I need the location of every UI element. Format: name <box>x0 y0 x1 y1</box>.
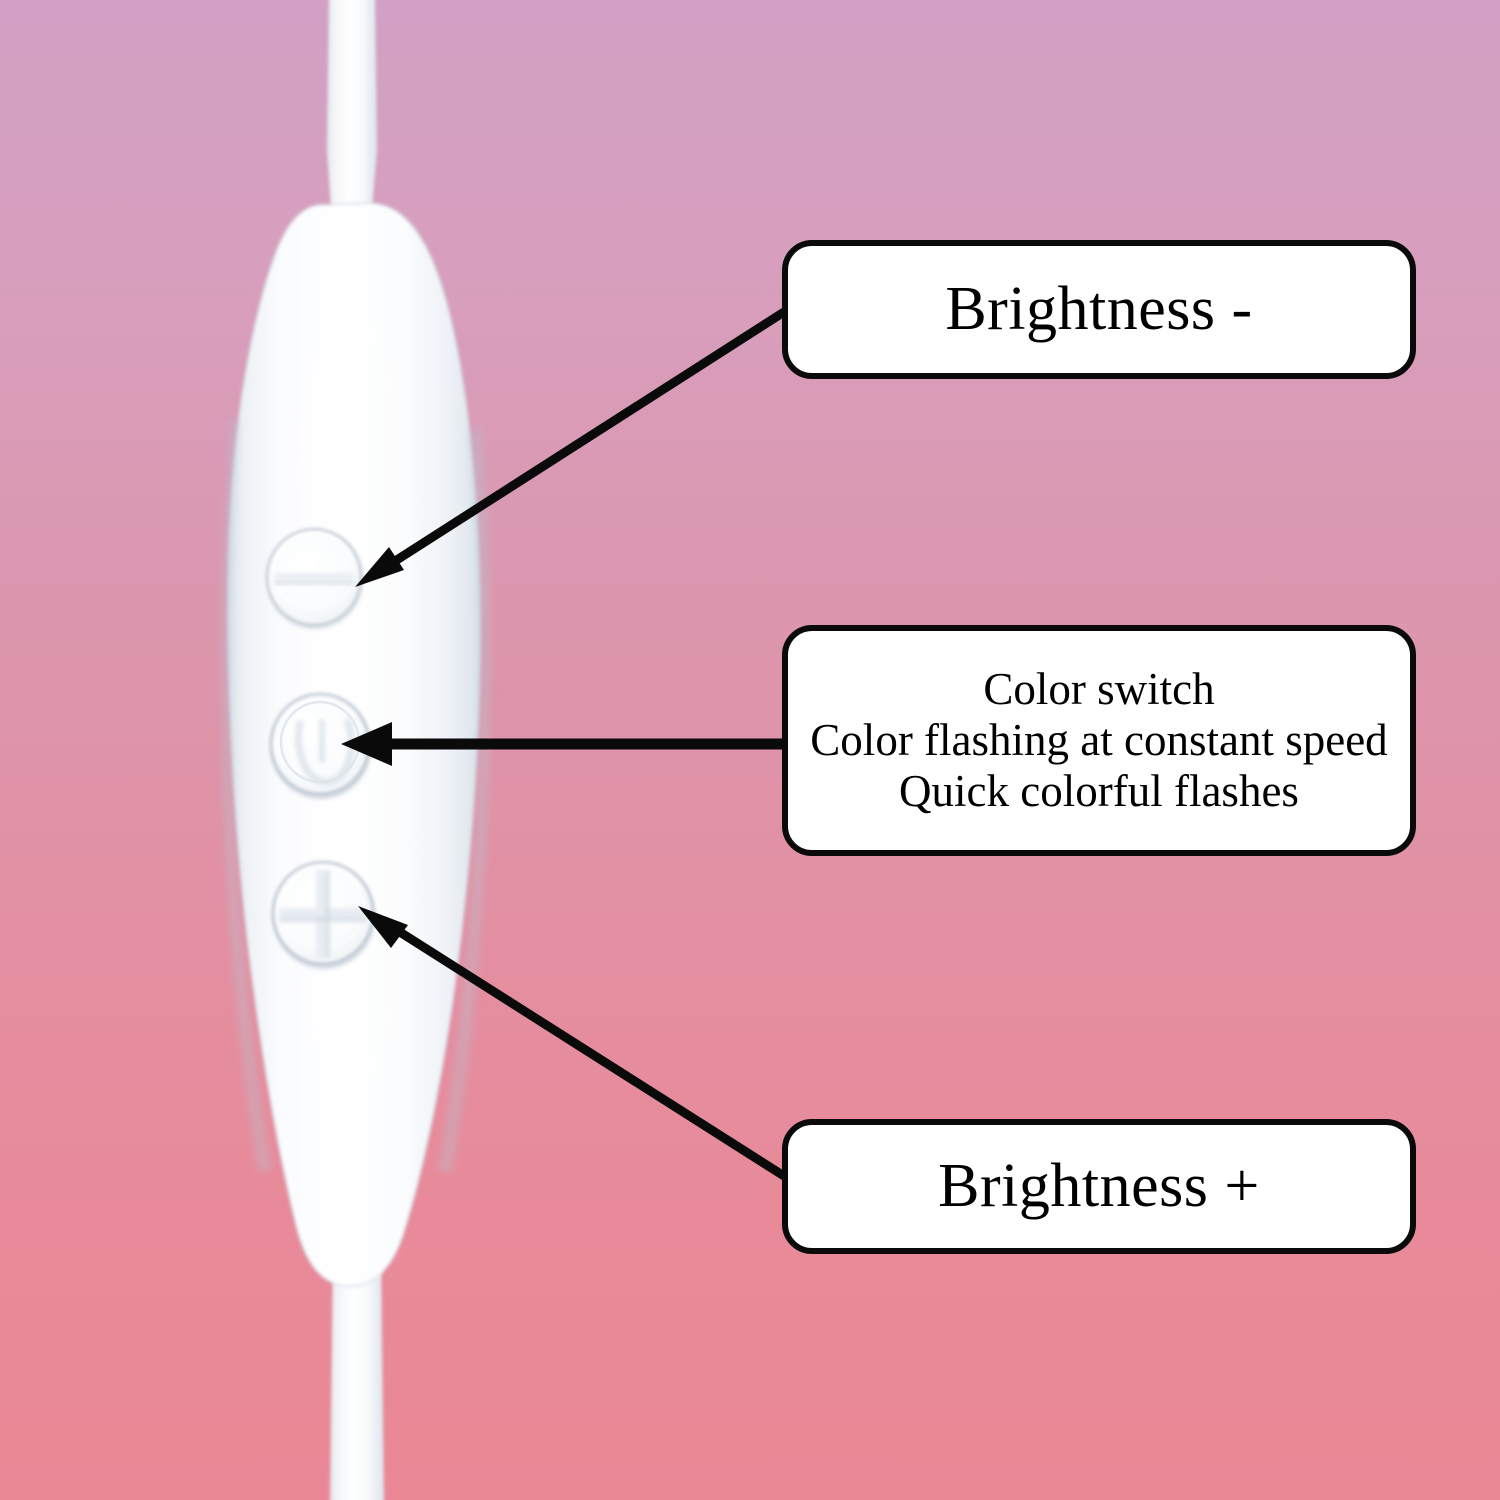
diagram-canvas: Brightness - Color switch Color flashing… <box>0 0 1500 1500</box>
callout-text-line: Color switch <box>983 664 1214 715</box>
callout-text-line: Brightness - <box>945 274 1252 344</box>
callout-text-line: Color flashing at constant speed <box>810 715 1387 766</box>
callout-brightness-plus[interactable]: Brightness + <box>782 1119 1416 1254</box>
upper-cord <box>327 0 377 208</box>
callout-text-line: Quick colorful flashes <box>899 766 1299 817</box>
callout-color-switch[interactable]: Color switch Color flashing at constant … <box>782 625 1416 856</box>
lower-cord <box>330 1250 384 1500</box>
callout-brightness-minus[interactable]: Brightness - <box>782 240 1416 379</box>
plus-button[interactable] <box>273 862 375 969</box>
minus-icon <box>274 573 354 581</box>
minus-button[interactable] <box>267 529 363 629</box>
callout-text-line: Brightness + <box>938 1151 1260 1221</box>
